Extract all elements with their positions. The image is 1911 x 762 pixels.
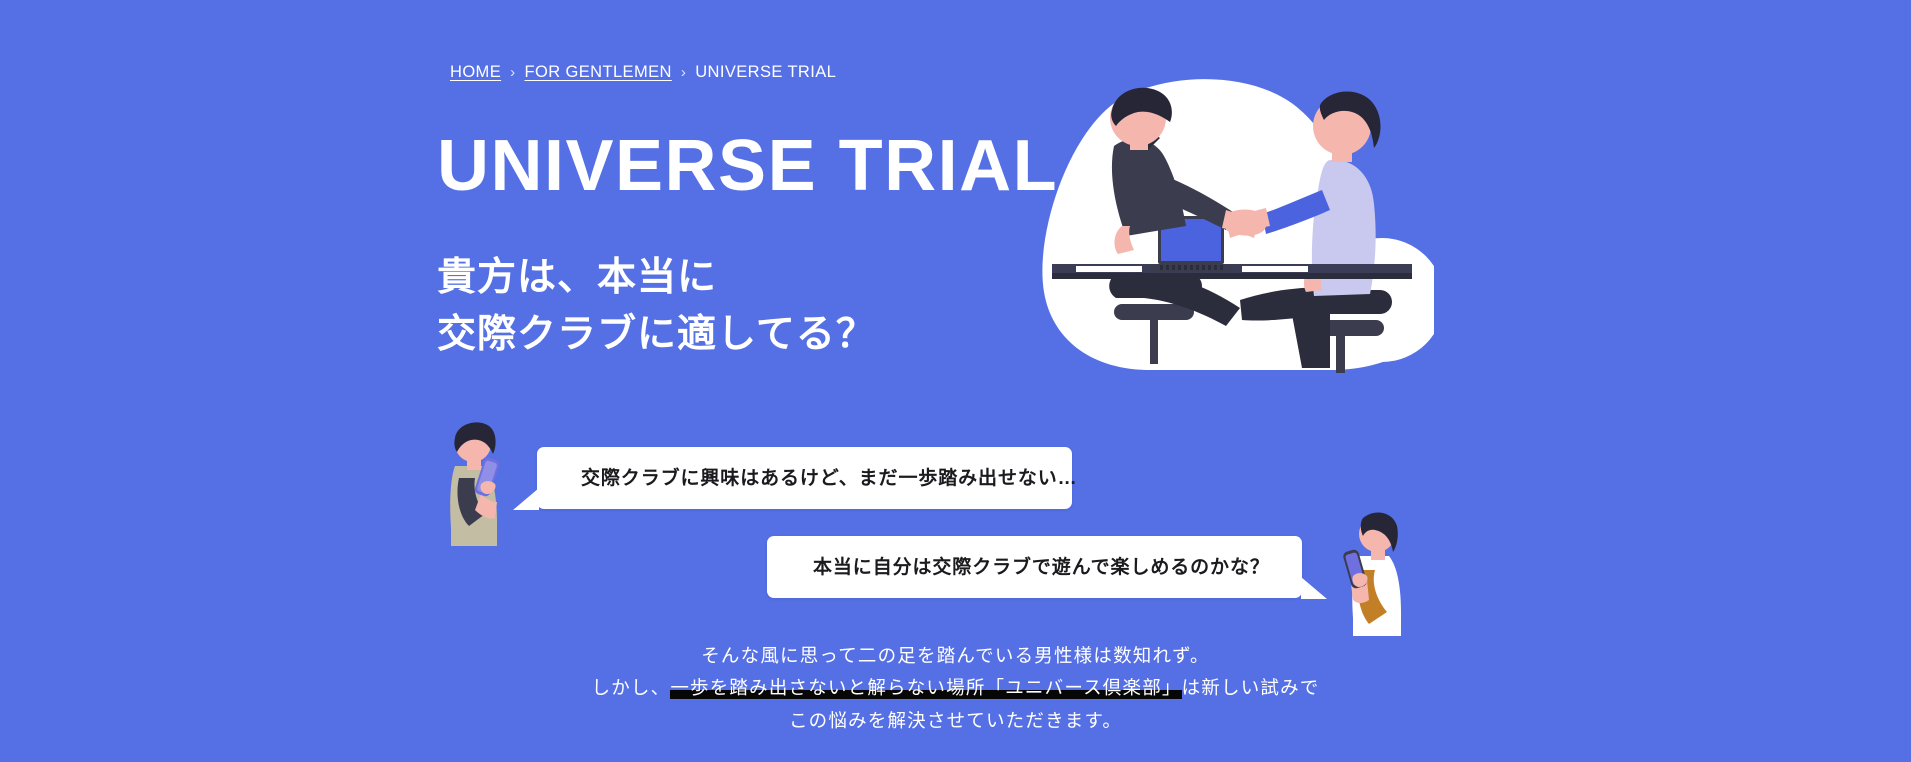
closing-line-2-highlight: 一歩を踏み出さないと解らない場所「ユニバース倶楽部」 bbox=[670, 677, 1181, 699]
page-title: UNIVERSE TRIAL bbox=[437, 130, 1058, 202]
speech-bubble-tail-icon bbox=[513, 488, 539, 510]
speech-bubble-2-text: 本当に自分は交際クラブで遊んで楽しめるのかな？ bbox=[813, 558, 1270, 577]
breadcrumb-separator-icon: › bbox=[510, 64, 515, 81]
hero-subtitle-line-2: 交際クラブに適してる？ bbox=[437, 307, 876, 364]
closing-line-2-before: しかし、 bbox=[592, 677, 671, 698]
speech-bubble-1-text: 交際クラブに興味はあるけど、まだ一歩踏み出せない… bbox=[581, 469, 1078, 488]
closing-line-3: この悩みを解決させていただきます。 bbox=[0, 705, 1911, 737]
two-people-handshake-desk-laptop-illustration bbox=[1030, 68, 1434, 373]
breadcrumb-separator-icon: › bbox=[681, 64, 686, 81]
breadcrumb-item-home[interactable]: HOME bbox=[450, 63, 501, 82]
speech-bubble-2: 本当に自分は交際クラブで遊んで楽しめるのかな？ bbox=[767, 536, 1302, 598]
man-with-smartphone-illustration bbox=[1335, 508, 1415, 636]
closing-paragraph: そんな風に思って二の足を踏んでいる男性様は数知れず。 しかし、一歩を踏み出さない… bbox=[0, 640, 1911, 737]
universe-trial-hero-page: HOME › FOR GENTLEMEN › UNIVERSE TRIAL UN… bbox=[0, 0, 1911, 762]
speech-bubble-tail-icon bbox=[1301, 577, 1327, 599]
breadcrumb-item-for-gentlemen[interactable]: FOR GENTLEMEN bbox=[525, 63, 672, 82]
speech-bubble-1: 交際クラブに興味はあるけど、まだ一歩踏み出せない… bbox=[537, 447, 1072, 509]
breadcrumb-item-universe-trial: UNIVERSE TRIAL bbox=[695, 63, 836, 82]
man-with-smartphone-illustration bbox=[435, 418, 515, 546]
closing-line-1: そんな風に思って二の足を踏んでいる男性様は数知れず。 bbox=[0, 640, 1911, 672]
closing-line-2: しかし、一歩を踏み出さないと解らない場所「ユニバース倶楽部」は新しい試みで bbox=[0, 672, 1911, 704]
hero-subtitle: 貴方は、本当に 交際クラブに適してる？ bbox=[437, 250, 876, 363]
breadcrumb: HOME › FOR GENTLEMEN › UNIVERSE TRIAL bbox=[450, 63, 836, 82]
closing-line-2-after: は新しい試みで bbox=[1182, 677, 1320, 698]
hero-subtitle-line-1: 貴方は、本当に bbox=[437, 250, 876, 307]
